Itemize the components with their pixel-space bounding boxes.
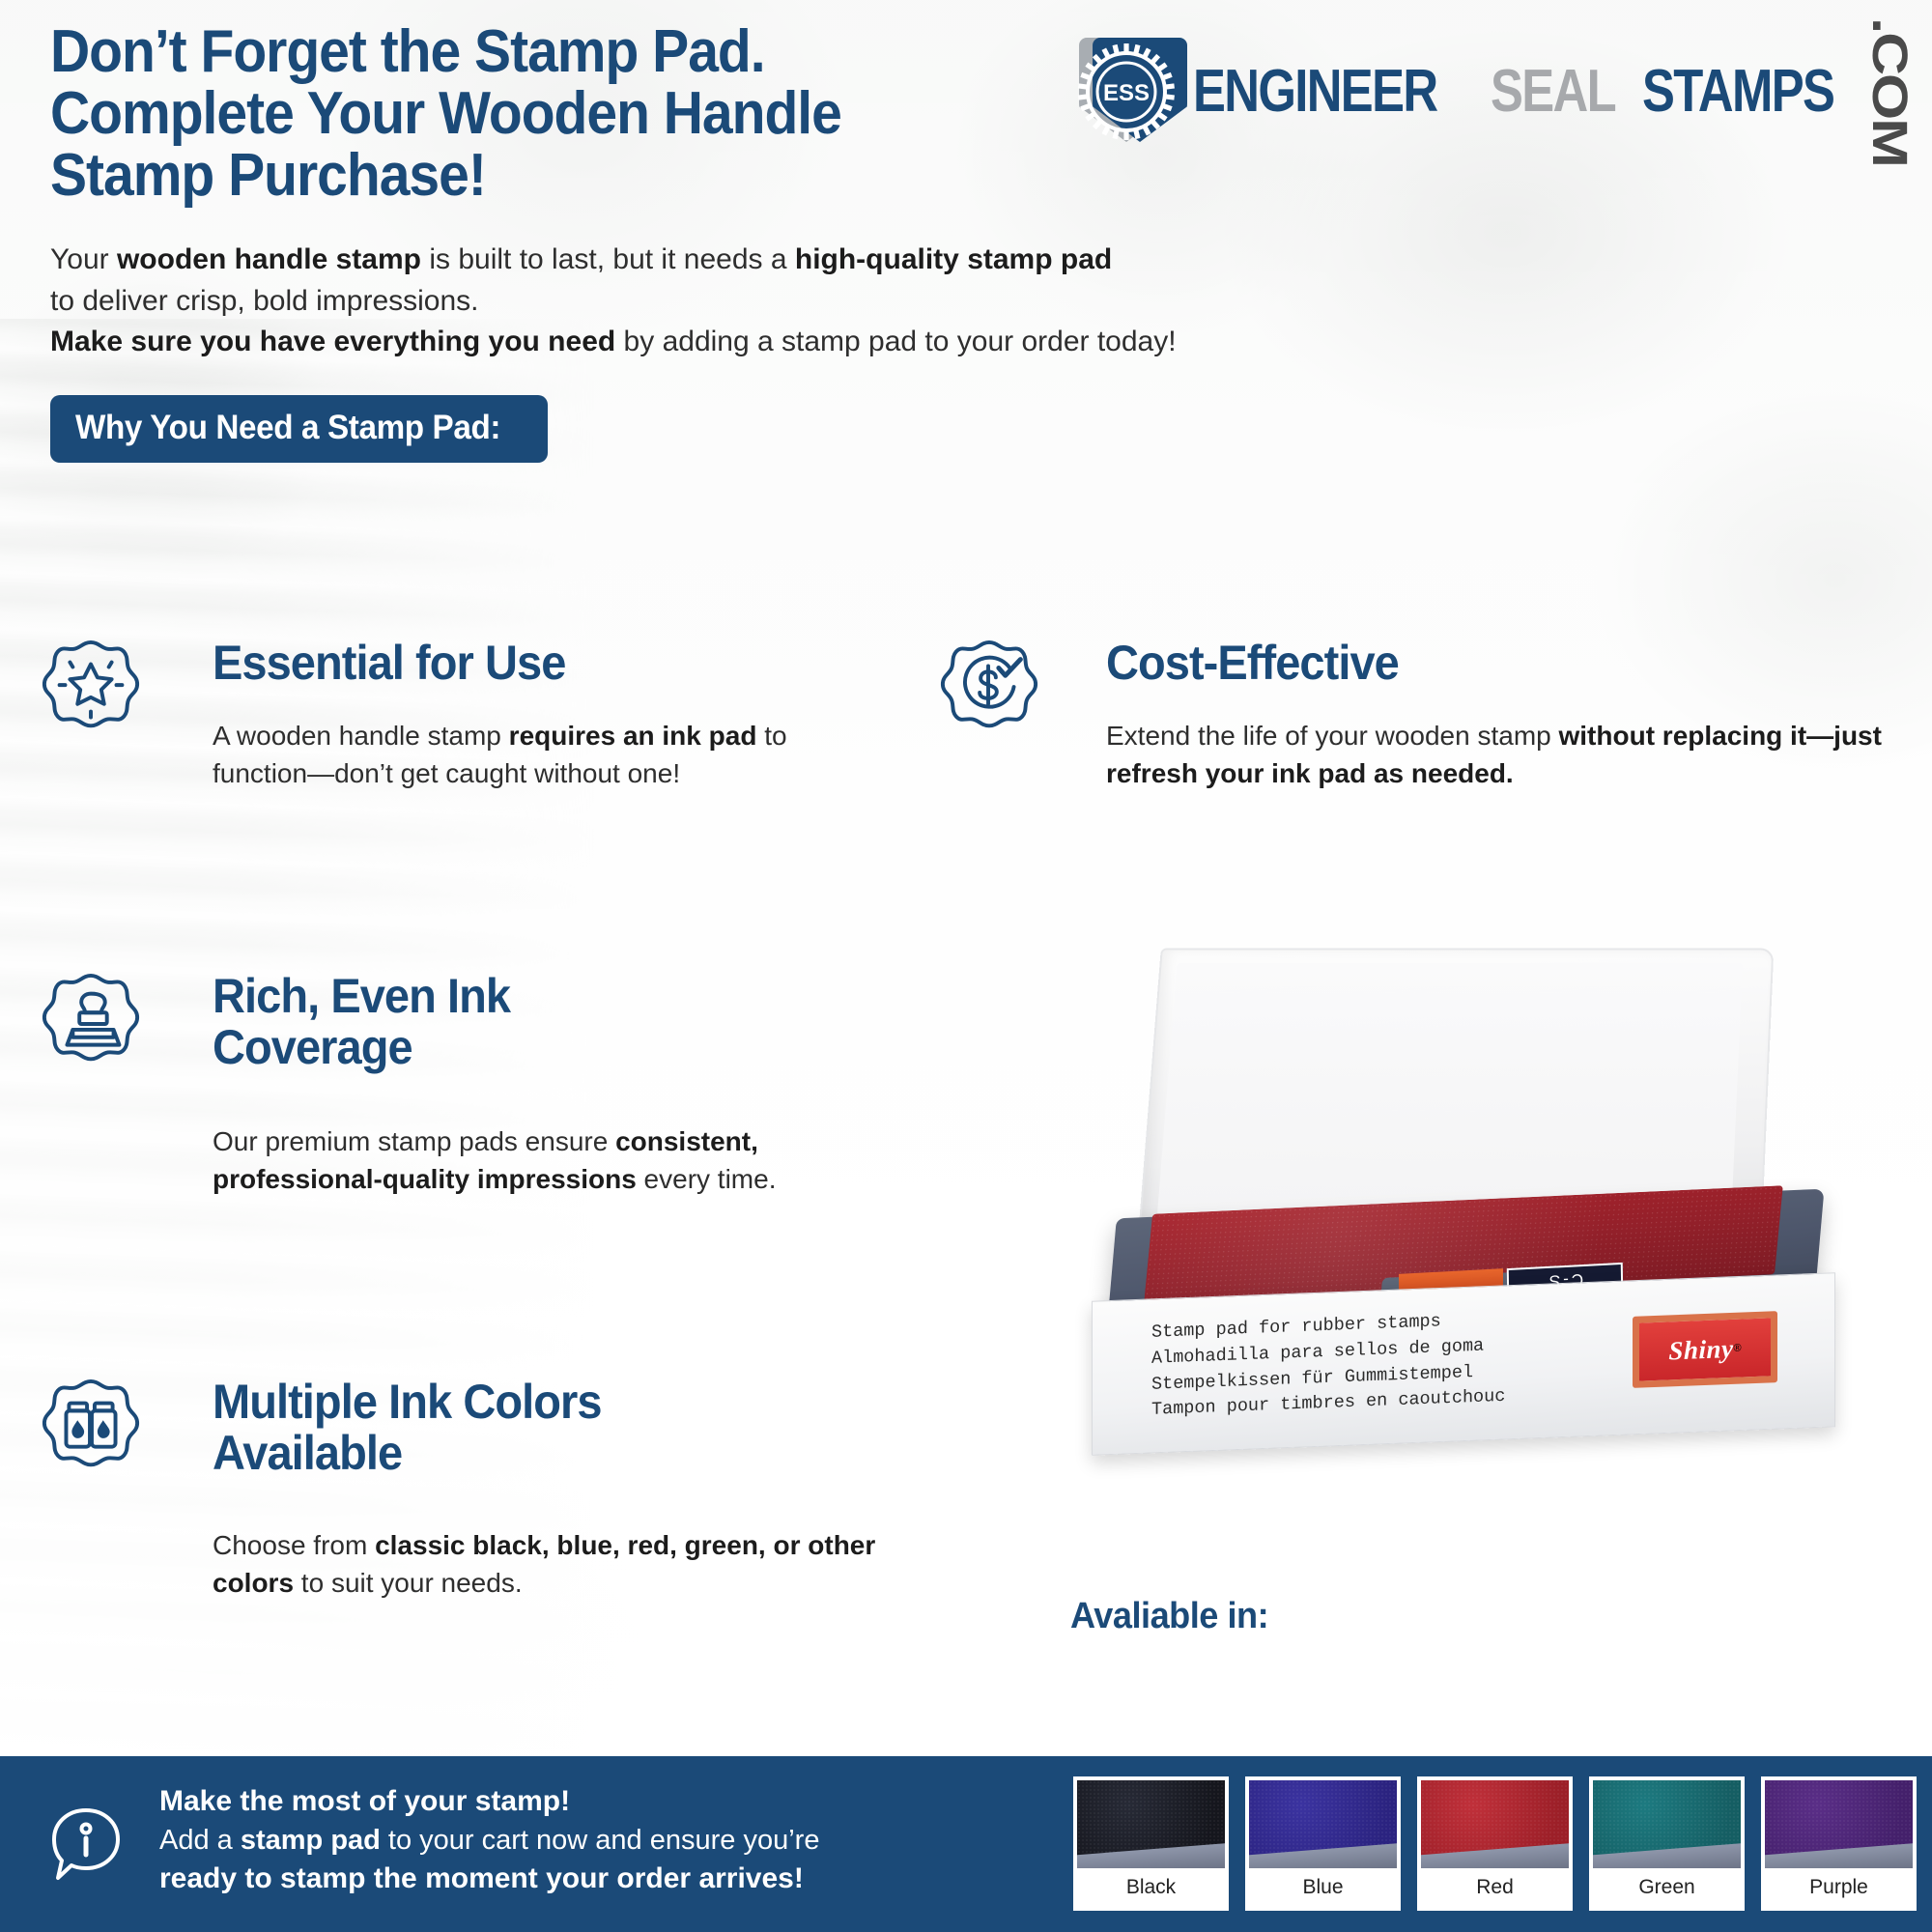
gear-ring-icon: ESS: [1069, 36, 1183, 148]
feature-body-a: Choose from: [213, 1530, 375, 1560]
swatch-pad-image: [1593, 1780, 1741, 1868]
footer-bold-stamp-pad: stamp pad: [241, 1825, 381, 1856]
feature-multiple-ink-colors: Multiple Ink Colors Available Choose fro…: [39, 1377, 1053, 1602]
available-in-label: Avaliable in:: [1070, 1596, 1279, 1637]
feature-title: Essential for Use: [213, 638, 889, 689]
logo-stamps: STAMPS: [1642, 62, 1833, 122]
lid-mold-mark: [1618, 982, 1662, 1032]
feature-body: A wooden handle stamp requires an ink pa…: [213, 718, 840, 792]
swatch-label: Red: [1421, 1868, 1569, 1907]
footer-message: Make the most of your stamp! Add a stamp…: [159, 1782, 1009, 1898]
feature-body-bold: requires an ink pad: [509, 721, 757, 751]
feature-body: Our premium stamp pads ensure consistent…: [213, 1123, 811, 1198]
feature-title-line-1: Rich, Even Ink: [213, 971, 510, 1022]
feature-cost-effective: Cost-Effective Extend the life of your w…: [937, 638, 1913, 792]
feature-title-line-2: Coverage: [213, 1022, 412, 1073]
swatch-label: Blue: [1249, 1868, 1397, 1907]
lid-mold-mark: [1200, 1138, 1246, 1188]
feature-title: Rich, Even Ink Coverage: [213, 971, 753, 1073]
lid-mold-mark: [1610, 1134, 1656, 1184]
logo-tld: .COM: [1864, 17, 1914, 166]
feature-rich-even-ink-coverage: Rich, Even Ink Coverage Our premium stam…: [39, 971, 889, 1198]
footer-line-1: Make the most of your stamp!: [159, 1782, 1009, 1822]
intro-paragraph: Your wooden handle stamp is built to las…: [50, 240, 1403, 363]
feature-body-a: A wooden handle stamp: [213, 721, 509, 751]
page-title: Don’t Forget the Stamp Pad. Complete You…: [50, 21, 1134, 207]
section-banner: Why You Need a Stamp Pad:: [50, 395, 548, 463]
feature-essential-for-use: Essential for Use A wooden handle stamp …: [39, 638, 889, 792]
intro-line-2: to deliver crisp, bold impressions.: [50, 281, 1403, 323]
product-box-multilingual-text: Stamp pad for rubber stamps Almohadilla …: [1151, 1303, 1596, 1424]
headline-line-3: Stamp Purchase!: [50, 145, 1134, 207]
feature-title-line-1: Multiple Ink Colors: [213, 1377, 602, 1428]
registered-mark: ®: [1733, 1343, 1741, 1354]
ink-color-swatch-list: BlackBlueRedGreenPurple: [1070, 1774, 1919, 1914]
footer-line-2-c: to your cart now and ensure you’re: [381, 1825, 820, 1856]
swatch-label: Purple: [1765, 1868, 1913, 1907]
swatch-pad-image: [1077, 1780, 1225, 1868]
headline-line-1: Don’t Forget the Stamp Pad.: [50, 21, 1134, 83]
logo-engineer: ENGINEER: [1193, 62, 1436, 122]
ink-color-swatch[interactable]: Black: [1070, 1774, 1232, 1914]
swatch-pad-image: [1249, 1780, 1397, 1868]
info-bubble-icon: [48, 1804, 124, 1886]
lid-mold-mark: [1211, 988, 1258, 1037]
ink-color-swatch[interactable]: Red: [1414, 1774, 1576, 1914]
ink-color-swatch[interactable]: Blue: [1242, 1774, 1404, 1914]
star-badge-icon: [39, 638, 143, 746]
ink-color-swatch[interactable]: Purple: [1758, 1774, 1919, 1914]
footer-line-3: ready to stamp the moment your order arr…: [159, 1860, 1009, 1899]
swatch-pad-image: [1765, 1780, 1913, 1868]
ink-bottles-badge-icon: [39, 1377, 143, 1485]
feature-body-c: every time.: [637, 1164, 777, 1194]
shiny-wordmark: Shiny: [1668, 1333, 1733, 1366]
feature-title: Cost-Effective: [1106, 638, 1913, 689]
rubber-stamp-badge-icon: [39, 971, 143, 1079]
feature-body: Extend the life of your wooden stamp wit…: [1106, 718, 1918, 792]
intro-bold-make-sure: Make sure you have everything you need: [50, 326, 615, 357]
feature-body-a: Extend the life of your wooden stamp: [1106, 721, 1559, 751]
shiny-brand-logo: Shiny®: [1633, 1311, 1777, 1388]
ess-badge-text: ESS: [1103, 80, 1150, 106]
section-banner-label: Why You Need a Stamp Pad:: [75, 409, 500, 447]
headline-line-2: Complete Your Wooden Handle: [50, 83, 1134, 145]
footer-line-2-a: Add a: [159, 1825, 241, 1856]
intro-bold-wooden-handle-stamp: wooden handle stamp: [117, 243, 421, 275]
infographic-page: Don’t Forget the Stamp Pad. Complete You…: [0, 0, 1932, 1932]
swatch-pad-image: [1421, 1780, 1569, 1868]
intro-line-3-tail: by adding a stamp pad to your order toda…: [615, 326, 1176, 357]
intro-text-a: Your: [50, 243, 117, 275]
feature-title-line-2: Available: [213, 1428, 402, 1479]
logo-wordmark: ENGINEER SEAL STAMPS .COM: [1193, 17, 1924, 166]
feature-body-a: Our premium stamp pads ensure: [213, 1126, 615, 1156]
ink-color-swatch[interactable]: Green: [1586, 1774, 1747, 1914]
swatch-label: Green: [1593, 1868, 1741, 1907]
feature-body: Choose from classic black, blue, red, gr…: [213, 1527, 889, 1602]
swatch-label: Black: [1077, 1868, 1225, 1907]
ess-gear-badge-icon: ESS: [1069, 36, 1183, 148]
intro-bold-high-quality-stamp-pad: high-quality stamp pad: [795, 243, 1112, 275]
dollar-check-badge-icon: [937, 638, 1041, 746]
logo-seal: SEAL: [1491, 62, 1615, 122]
intro-text-c: is built to last, but it needs a: [421, 243, 795, 275]
brand-logo[interactable]: ESS ENGINEER SEAL STAMPS .COM: [1069, 17, 1924, 166]
product-photo-stamp-pad: C-S Stamp pad for rubber stamps Almohadi…: [1092, 947, 1864, 1352]
feature-title: Multiple Ink Colors Available: [213, 1377, 831, 1479]
feature-body-c: to suit your needs.: [294, 1568, 523, 1598]
